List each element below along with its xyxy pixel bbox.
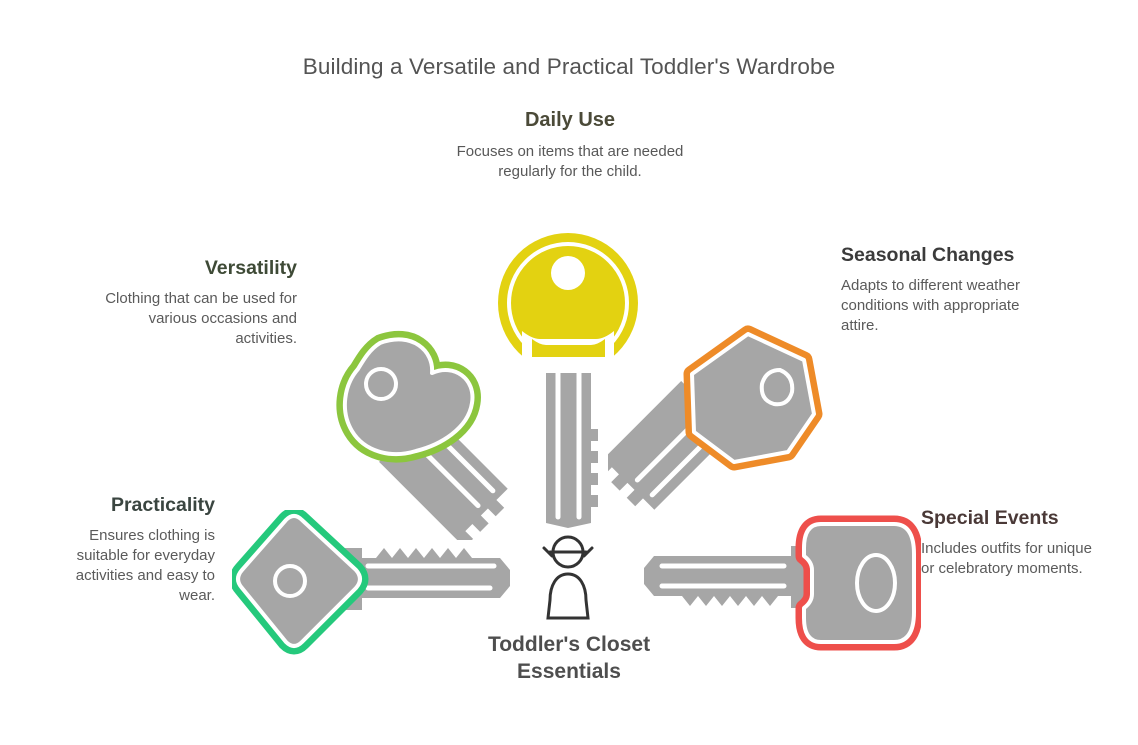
node-desc-seasonal-changes: Adapts to different weather conditions w… bbox=[841, 276, 1031, 336]
node-practicality: Practicality Ensures clothing is suitabl… bbox=[55, 494, 215, 606]
infographic-canvas: Building a Versatile and Practical Toddl… bbox=[0, 0, 1138, 745]
node-desc-special-events: Includes outfits for unique or celebrato… bbox=[921, 539, 1107, 579]
node-title-versatility: Versatility bbox=[105, 257, 297, 280]
node-title-practicality: Practicality bbox=[55, 494, 215, 517]
node-title-daily-use: Daily Use bbox=[440, 109, 700, 133]
node-desc-daily-use: Focuses on items that are needed regular… bbox=[440, 142, 700, 182]
node-seasonal-changes: Seasonal Changes Adapts to different wea… bbox=[841, 244, 1031, 336]
node-title-seasonal-changes: Seasonal Changes bbox=[841, 244, 1031, 267]
node-versatility: Versatility Clothing that can be used fo… bbox=[105, 257, 297, 349]
child-figure-icon bbox=[536, 534, 600, 629]
node-desc-versatility: Clothing that can be used for various oc… bbox=[105, 289, 297, 349]
node-special-events: Special Events Includes outfits for uniq… bbox=[921, 507, 1107, 579]
page-title: Building a Versatile and Practical Toddl… bbox=[0, 54, 1138, 80]
node-daily-use: Daily Use Focuses on items that are need… bbox=[440, 109, 700, 182]
center-label: Toddler's Closet Essentials bbox=[434, 632, 704, 686]
center-label-line1: Toddler's Closet bbox=[434, 632, 704, 659]
center-label-line2: Essentials bbox=[434, 659, 704, 686]
node-desc-practicality: Ensures clothing is suitable for everyda… bbox=[55, 526, 215, 606]
node-title-special-events: Special Events bbox=[921, 507, 1107, 530]
